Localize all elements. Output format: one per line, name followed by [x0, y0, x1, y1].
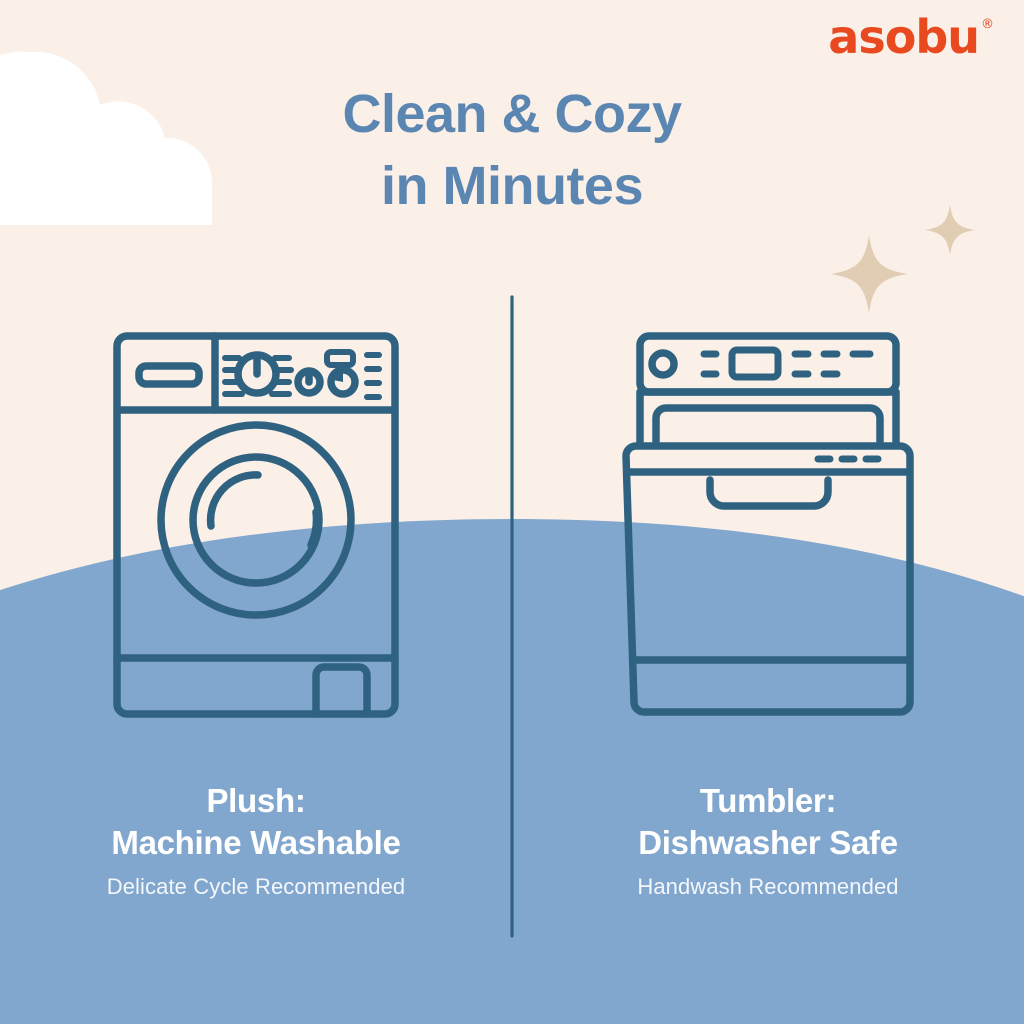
caption-tumbler: Tumbler: Dishwasher Safe Handwash Recomm… [512, 780, 1024, 900]
dishwasher-icon [618, 330, 918, 720]
panel-tumbler [512, 330, 1024, 750]
page-title: Clean & Cozy in Minutes [0, 78, 1024, 223]
caption-plush-title: Plush: Machine Washable [0, 780, 512, 864]
page-title-line1: Clean & Cozy [342, 84, 681, 144]
caption-plush: Plush: Machine Washable Delicate Cycle R… [0, 780, 512, 900]
caption-plush-title-line1: Plush: [0, 780, 512, 822]
brand-logo: asobu ® [828, 14, 994, 60]
brand-name: asobu [828, 14, 979, 60]
washing-machine-icon-wrap [0, 330, 512, 750]
caption-tumbler-title-line1: Tumbler: [512, 780, 1024, 822]
page-title-line2: in Minutes [0, 150, 1024, 222]
caption-plush-subtitle: Delicate Cycle Recommended [0, 874, 512, 900]
dishwasher-icon-wrap [512, 330, 1024, 750]
caption-plush-title-line2: Machine Washable [0, 822, 512, 864]
promo-graphic: asobu ® Clean & Cozy in Minutes [0, 0, 1024, 1024]
caption-tumbler-title: Tumbler: Dishwasher Safe [512, 780, 1024, 864]
caption-tumbler-title-line2: Dishwasher Safe [512, 822, 1024, 864]
registered-mark-icon: ® [981, 18, 994, 31]
caption-tumbler-subtitle: Handwash Recommended [512, 874, 1024, 900]
washing-machine-icon [111, 330, 401, 720]
panel-plush [0, 330, 512, 750]
